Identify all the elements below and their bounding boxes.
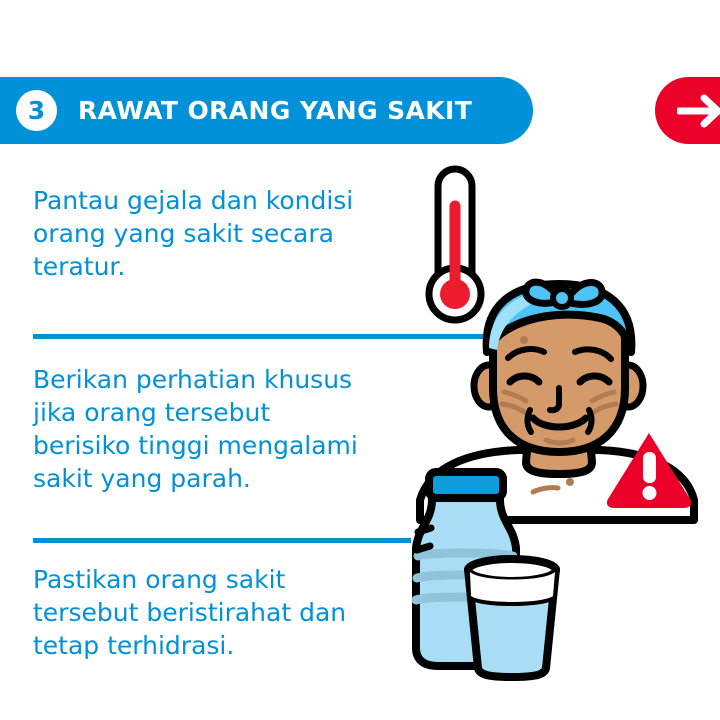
elderly-woman-illustration (420, 282, 694, 520)
warning-triangle-icon (607, 433, 691, 508)
tip-text-2: Berikan perhatian khusus jika orang ters… (33, 363, 363, 495)
tip-text-3: Pastikan orang sakit tersebut beristirah… (33, 563, 363, 662)
section-header-banner: 3 RAWAT ORANG YANG SAKIT (0, 77, 533, 144)
water-glass-icon (468, 559, 556, 677)
headscarf-bow-icon (526, 282, 602, 307)
infographic-card: 3 RAWAT ORANG YANG SAKIT Pantau gejala d… (0, 0, 720, 720)
next-button[interactable] (655, 77, 720, 144)
arrow-right-icon (677, 94, 720, 128)
water-bottle-icon (416, 472, 516, 666)
page-title: RAWAT ORANG YANG SAKIT (78, 96, 472, 125)
tip-text-1: Pantau gejala dan kondisi orang yang sak… (33, 184, 363, 283)
step-number-badge: 3 (16, 90, 57, 131)
thermometer-icon (429, 169, 481, 320)
divider-2 (33, 538, 411, 543)
divider-1 (33, 334, 485, 339)
